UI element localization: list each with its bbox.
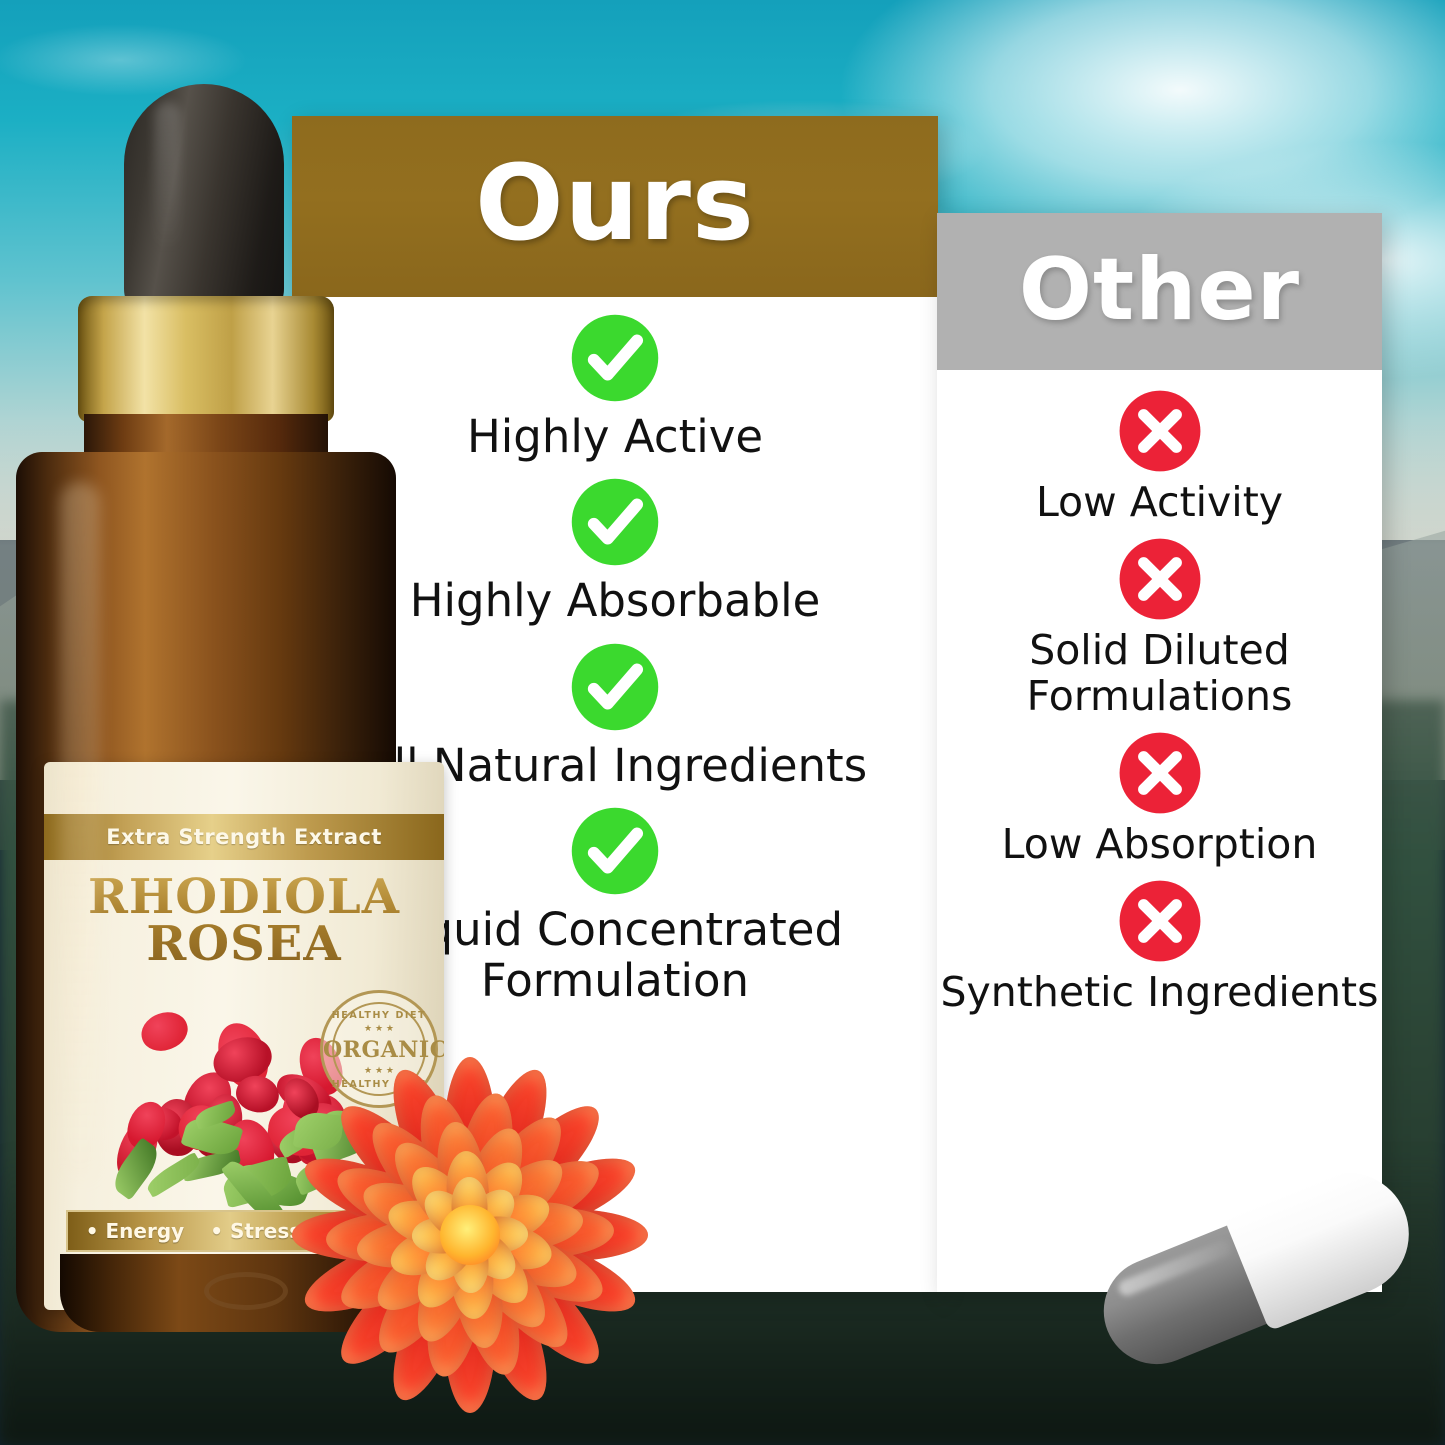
feature-row: Low Activity — [937, 388, 1382, 526]
check-circle-icon — [569, 476, 661, 568]
x-circle-icon — [1117, 388, 1203, 474]
feature-row: Low Absorption — [937, 730, 1382, 868]
check-circle-icon — [569, 312, 661, 404]
feature-label: Highly Active — [467, 412, 763, 462]
feature-label: Highly Absorbable — [410, 576, 821, 626]
feature-row: Synthetic Ingredients — [937, 878, 1382, 1016]
label-benefit-1: • Stress — [210, 1219, 301, 1243]
seal-stars-top: ★ ★ ★ — [323, 1024, 435, 1034]
x-circle-icon — [1117, 536, 1203, 622]
dropper-gold-collar — [78, 296, 334, 422]
label-top-banner: Extra Strength Extract — [44, 814, 444, 860]
check-circle-icon — [569, 641, 661, 733]
check-circle-icon — [569, 312, 661, 404]
x-circle-icon — [1117, 388, 1203, 474]
x-circle-icon — [1117, 878, 1203, 964]
other-feature-list: Low ActivitySolid Diluted FormulationsLo… — [937, 388, 1382, 1026]
other-panel: Other Low ActivitySolid Diluted Formulat… — [937, 213, 1382, 1292]
label-title-line1: RHODIOLA — [44, 874, 444, 921]
other-header: Other — [937, 213, 1382, 370]
label-product-title: RHODIOLA ROSEA — [44, 874, 444, 968]
check-circle-icon — [569, 641, 661, 733]
label-title-line2: ROSEA — [44, 921, 444, 968]
seal-top-text: HEALTHY DIET — [323, 1010, 435, 1021]
ours-header-title: Ours — [475, 151, 755, 255]
check-circle-icon — [569, 805, 661, 897]
check-circle-icon — [569, 805, 661, 897]
x-circle-icon — [1117, 536, 1203, 622]
x-circle-icon — [1117, 878, 1203, 964]
check-circle-icon — [569, 476, 661, 568]
feature-label: Synthetic Ingredients — [941, 970, 1379, 1016]
label-benefit-0: • Energy — [86, 1219, 184, 1243]
bottle-base-oval — [204, 1272, 288, 1310]
x-circle-icon — [1117, 730, 1203, 816]
feature-label: Low Absorption — [1002, 822, 1318, 868]
dropper-bulb — [124, 84, 284, 319]
label-banner-text: Extra Strength Extract — [106, 825, 382, 849]
foreground-rhodiola-flower — [300, 1060, 640, 1410]
x-circle-icon — [1117, 730, 1203, 816]
feature-row: Solid Diluted Formulations — [937, 536, 1382, 720]
feature-label: Low Activity — [1036, 480, 1283, 526]
other-header-title: Other — [1019, 247, 1300, 333]
feature-label: Solid Diluted Formulations — [937, 628, 1382, 720]
